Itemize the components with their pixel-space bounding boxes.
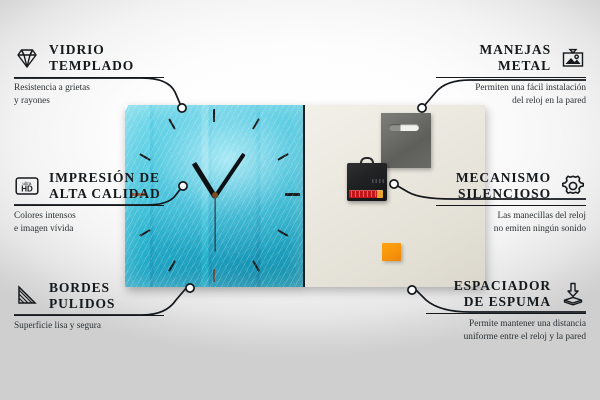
callout-description-line1: Permite mantener una distancia [426, 318, 586, 331]
callout-title-line1: MECANISMO [456, 170, 551, 186]
gear-icon [560, 173, 586, 199]
callout-manejas-metal[interactable]: MANEJAS METAL Permiten una fácil instala… [436, 42, 586, 108]
callout-title-line1: IMPRESIÓN DE [49, 170, 161, 186]
callout-bordes-pulidos[interactable]: BORDES PULIDOS Superficie lisa y segura [14, 280, 164, 333]
ultra-hd-icon: ultra HD [14, 173, 40, 199]
clock-tick [252, 260, 260, 271]
callout-rule [426, 313, 586, 315]
clock-tick [252, 118, 260, 129]
callout-mecanismo-silencioso[interactable]: MECANISMO SILENCIOSO Las manecillas del … [436, 170, 586, 236]
diamond-icon [14, 45, 40, 71]
callout-vidrio-templado[interactable]: VIDRIO TEMPLADO Resistencia a grietas y … [14, 42, 164, 108]
callout-header: MANEJAS METAL [436, 42, 586, 74]
clock-minute-hand [213, 153, 246, 198]
callout-header: VIDRIO TEMPLADO [14, 42, 164, 74]
callout-title-line2: TEMPLADO [49, 58, 134, 74]
callout-title-line2: DE ESPUMA [454, 294, 551, 310]
foam-spacer [382, 243, 401, 261]
callout-title-line2: SILENCIOSO [456, 186, 551, 202]
battery [349, 190, 383, 198]
callout-rule [436, 77, 586, 79]
callout-title-line1: BORDES [49, 280, 115, 296]
movement-label [372, 179, 384, 183]
callout-description-line2: uniforme entre el reloj y la pared [426, 331, 586, 344]
svg-text:HD: HD [21, 185, 33, 194]
callout-description-line1: Las manecillas del reloj [436, 210, 586, 223]
callout-description-line1: Superficie lisa y segura [14, 320, 164, 333]
clock-movement [347, 163, 387, 201]
callout-title-line1: MANEJAS [479, 42, 551, 58]
picture-frame-hanger-icon [560, 45, 586, 71]
hanger-plate [381, 113, 431, 168]
movement-hanging-loop [360, 157, 374, 166]
clock-tick [139, 153, 150, 161]
clock-tick [277, 229, 288, 237]
clock-second-hand [214, 196, 215, 252]
clock-tick [277, 153, 288, 161]
clock-tick [168, 260, 176, 271]
callout-description-line2: y rayones [14, 95, 164, 108]
callout-title-line2: METAL [479, 58, 551, 74]
callout-description-line2: e imagen vívida [14, 223, 164, 236]
callout-header: ESPACIADOR DE ESPUMA [426, 278, 586, 310]
callout-title-line1: ESPACIADOR [454, 278, 551, 294]
callout-header: BORDES PULIDOS [14, 280, 164, 312]
callout-description-line1: Colores intensos [14, 210, 164, 223]
connector-endpoint [408, 286, 416, 294]
product-image-group [125, 105, 485, 287]
callout-title-line2: ALTA CALIDAD [49, 186, 161, 202]
down-arrow-pad-icon [560, 281, 586, 307]
callout-description-line1: Permiten una fácil instalación [436, 82, 586, 95]
callout-rule [14, 205, 164, 207]
hanger-slot [389, 124, 419, 131]
infographic-canvas: VIDRIO TEMPLADO Resistencia a grietas y … [0, 0, 600, 400]
callout-rule [14, 77, 164, 79]
callout-header: MECANISMO SILENCIOSO [436, 170, 586, 202]
clock-center-pin [212, 192, 218, 198]
clock-tick [213, 109, 215, 122]
callout-espaciador-espuma[interactable]: ESPACIADOR DE ESPUMA Permite mantener un… [426, 278, 586, 344]
callout-title-line1: VIDRIO [49, 42, 134, 58]
callout-rule [436, 205, 586, 207]
callout-description-line2: no emiten ningún sonido [436, 223, 586, 236]
callout-title-line2: PULIDOS [49, 296, 115, 312]
callout-header: ultra HD IMPRESIÓN DE ALTA CALIDAD [14, 170, 164, 202]
polished-edge-icon [14, 283, 40, 309]
callout-impresion-alta-calidad[interactable]: ultra HD IMPRESIÓN DE ALTA CALIDAD Color… [14, 170, 164, 236]
callout-description-line1: Resistencia a grietas [14, 82, 164, 95]
callout-rule [14, 315, 164, 317]
clock-tick [213, 269, 215, 282]
clock-tick [168, 118, 176, 129]
clock-tick [285, 193, 300, 196]
callout-description-line2: del reloj en la pared [436, 95, 586, 108]
